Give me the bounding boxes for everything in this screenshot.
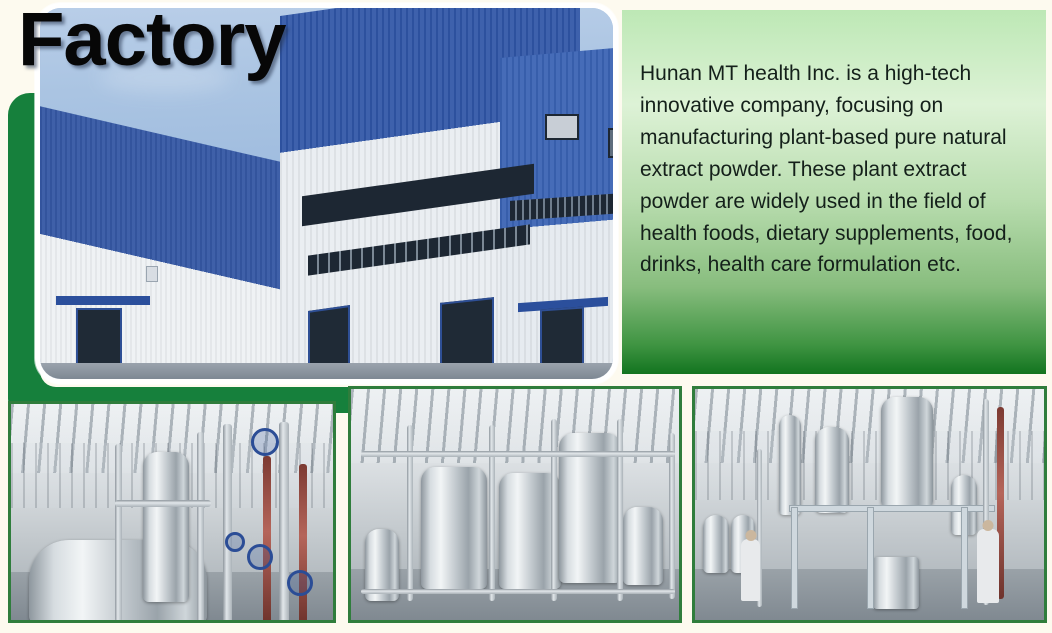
support-frame-leg (961, 507, 968, 609)
storage-tank (703, 515, 729, 573)
tower-window (545, 114, 579, 140)
storage-tank (421, 467, 487, 589)
page-title: Factory (18, 2, 286, 78)
factory-banner: Factory Hunan MT health Inc. is a high-t… (0, 0, 1052, 633)
gallery-photo-3 (692, 386, 1047, 623)
entrance-awning (56, 296, 150, 305)
vertical-pipe (279, 422, 289, 623)
evaporator-vessel (815, 427, 849, 513)
gallery-strip (0, 383, 1052, 633)
red-pipe (263, 456, 271, 623)
gallery-photo-2 (348, 386, 682, 623)
red-pipe (299, 464, 307, 623)
valve-wheel-icon (247, 544, 273, 570)
worker-figure (977, 529, 999, 603)
company-description-panel: Hunan MT health Inc. is a high-tech inno… (622, 10, 1046, 374)
ground-pavement (40, 363, 613, 379)
valve-wheel-icon (225, 532, 245, 552)
storage-tank (623, 507, 663, 585)
column-vessel (779, 415, 801, 515)
worker-figure (741, 539, 760, 601)
vertical-pipe (115, 444, 122, 622)
valve-wheel-icon (251, 428, 279, 456)
vertical-pipe (223, 424, 232, 623)
vertical-pipe (669, 433, 675, 599)
evaporator-vessel (881, 397, 933, 507)
horizontal-pipe (361, 451, 675, 457)
wall-panel (695, 431, 1044, 500)
gallery-photo-1 (8, 401, 336, 623)
horizontal-pipe (115, 500, 211, 507)
valve-wheel-icon (287, 570, 313, 596)
column-vessel (143, 452, 189, 602)
horizontal-pipe (361, 589, 675, 594)
vertical-pipe (197, 432, 204, 622)
company-description-text: Hunan MT health Inc. is a high-tech inno… (640, 58, 1026, 281)
support-frame-leg (867, 507, 874, 609)
storage-tank (873, 557, 919, 609)
wall-sign (146, 266, 158, 282)
vertical-pipe (551, 419, 557, 601)
vertical-pipe (617, 419, 623, 601)
support-frame-leg (791, 507, 798, 609)
tower-window (608, 128, 618, 158)
